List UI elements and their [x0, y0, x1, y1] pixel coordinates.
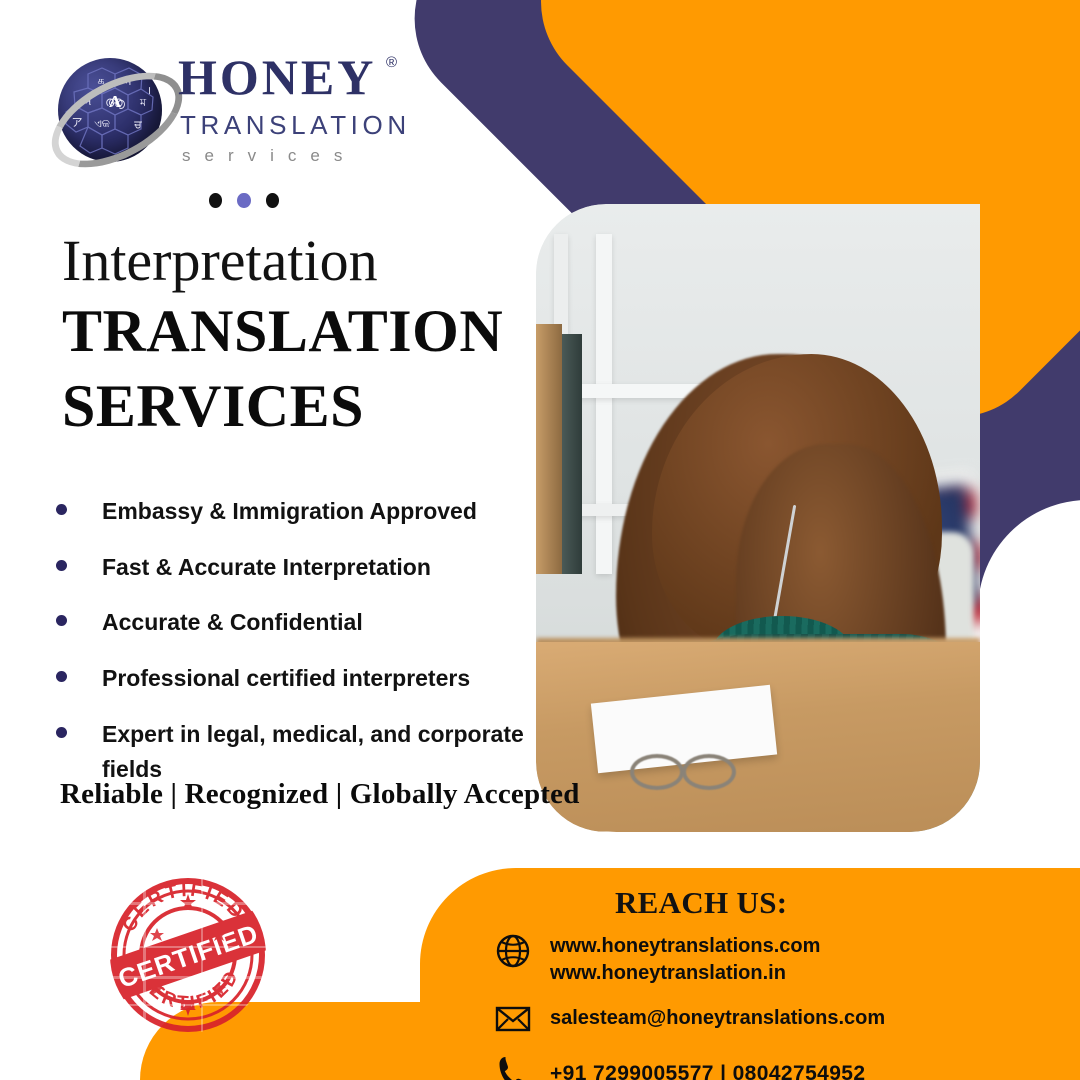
- contact-row-website: www.honeytranslations.com www.honeytrans…: [492, 930, 1052, 986]
- headline-block: Interpretation TRANSLATION SERVICES: [62, 232, 503, 440]
- feature-list: Embassy & Immigration Approved Fast & Ac…: [56, 494, 526, 808]
- contact-heading: REACH US:: [615, 885, 787, 921]
- bullet-dot-icon: [56, 727, 67, 738]
- list-item: Accurate & Confidential: [56, 605, 526, 641]
- globe-languages-icon: க म । બ ആ ম ア ଏକ ਚ A: [52, 52, 168, 168]
- feature-text: Fast & Accurate Interpretation: [102, 550, 431, 586]
- list-item: Fast & Accurate Interpretation: [56, 550, 526, 586]
- dot-black-1: [209, 193, 222, 208]
- list-item: Embassy & Immigration Approved: [56, 494, 526, 530]
- headline-main-line-1: TRANSLATION: [62, 298, 503, 365]
- contact-list: www.honeytranslations.com www.honeytrans…: [492, 930, 1052, 1080]
- flyer-canvas: க म । બ ആ ম ア ଏକ ਚ A HONEY ® TRANSLATION: [0, 0, 1080, 1080]
- interpreter-at-desk-photo: [536, 204, 980, 832]
- contact-website-text[interactable]: www.honeytranslations.com www.honeytrans…: [550, 930, 820, 986]
- dot-black-2: [266, 193, 279, 208]
- website-line-2[interactable]: www.honeytranslation.in: [550, 962, 786, 984]
- registered-mark-icon: ®: [386, 54, 397, 71]
- headline-main-line-2: SERVICES: [62, 373, 503, 440]
- bullet-dot-icon: [56, 504, 67, 515]
- logo-wordmark: HONEY: [178, 52, 376, 102]
- contact-email-text[interactable]: salesteam@honeytranslations.com: [550, 998, 885, 1032]
- feature-text: Embassy & Immigration Approved: [102, 494, 477, 530]
- envelope-icon: [492, 998, 534, 1040]
- website-line-1[interactable]: www.honeytranslations.com: [550, 935, 820, 957]
- decorative-dots: [209, 191, 279, 209]
- list-item: Professional certified interpreters: [56, 661, 526, 697]
- logo-subtitle-services: services: [182, 146, 356, 166]
- dot-purple: [237, 193, 250, 208]
- bullet-dot-icon: [56, 671, 67, 682]
- contact-phone-text[interactable]: +91 7299005577 | 08042754952: [550, 1052, 865, 1080]
- headline-script-line: Interpretation: [62, 232, 503, 290]
- feature-text: Accurate & Confidential: [102, 605, 363, 641]
- contact-row-email: salesteam@honeytranslations.com: [492, 998, 1052, 1040]
- bullet-dot-icon: [56, 560, 67, 571]
- globe-icon: [492, 930, 534, 972]
- brand-logo[interactable]: க म । બ ആ ম ア ଏକ ਚ A HONEY ® TRANSLATION: [52, 48, 412, 178]
- logo-subtitle-translation: TRANSLATION: [180, 110, 411, 141]
- contact-row-phone: +91 7299005577 | 08042754952: [492, 1052, 1052, 1080]
- certified-stamp-icon: CERTIFIED CERTIFIED CERTIFIED: [105, 872, 271, 1038]
- phone-icon: [492, 1052, 534, 1080]
- bullet-dot-icon: [56, 615, 67, 626]
- feature-text: Professional certified interpreters: [102, 661, 470, 697]
- tagline: Reliable | Recognized | Globally Accepte…: [60, 778, 580, 811]
